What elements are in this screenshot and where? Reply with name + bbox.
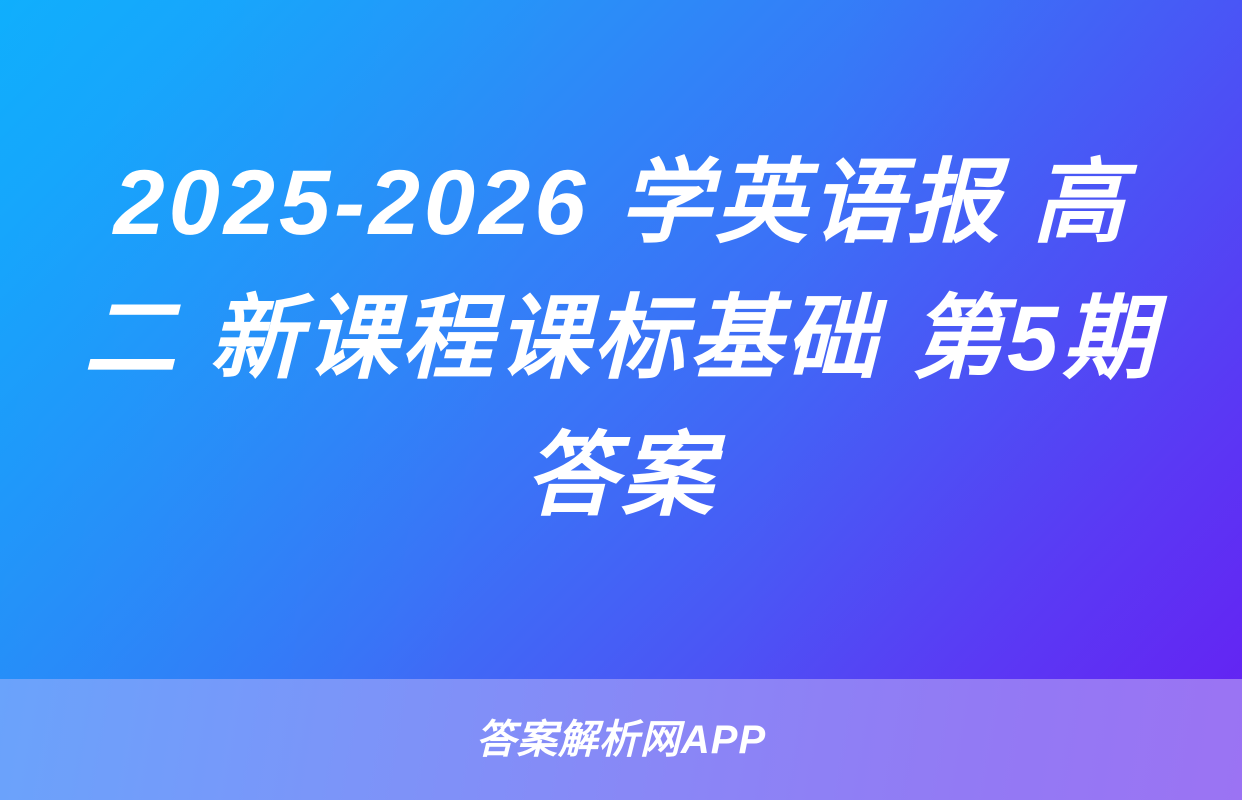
page-title: 2025-2026 学英语报 高二 新课程课标基础 第5期答案 [66, 135, 1176, 543]
brand-watermark: 答案解析网APP [476, 720, 766, 760]
answer-poster: 2025-2026 学英语报 高二 新课程课标基础 第5期答案 答案解析网APP [0, 0, 1242, 800]
footer-brand-bar: 答案解析网APP [0, 679, 1242, 800]
title-container: 2025-2026 学英语报 高二 新课程课标基础 第5期答案 [0, 0, 1242, 679]
